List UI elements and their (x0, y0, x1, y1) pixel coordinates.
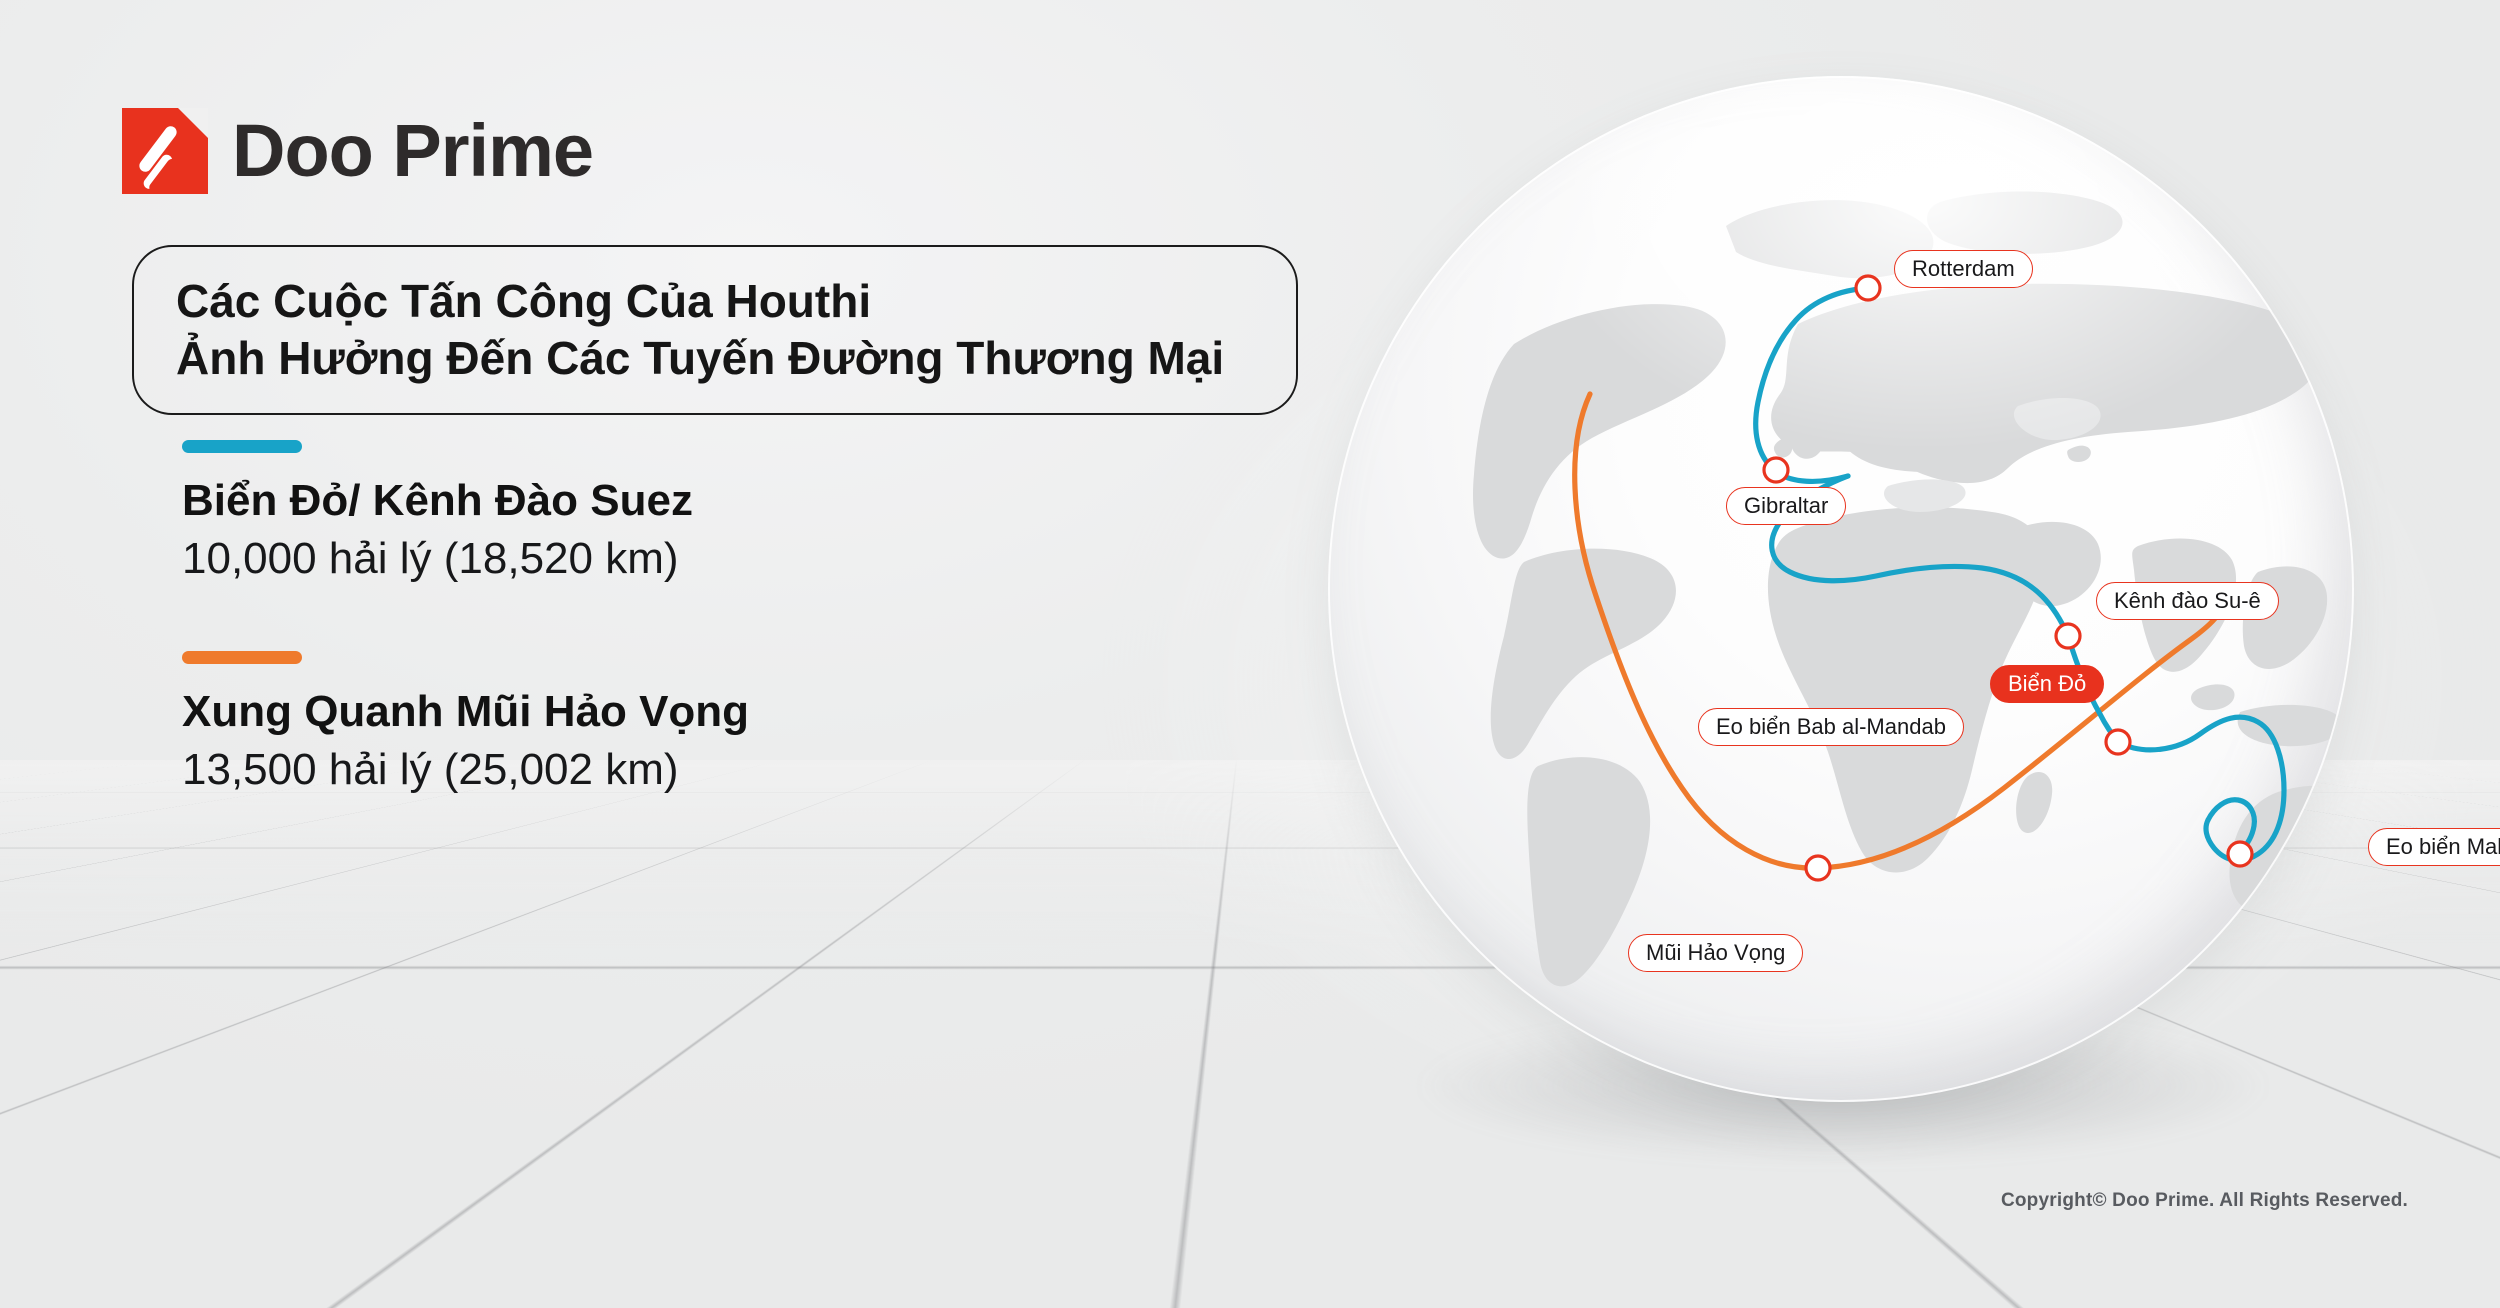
legend-swatch-cape (182, 651, 302, 664)
route-waypoint-markers (1764, 276, 2252, 880)
map-label-cape-of-good-hope[interactable]: Mũi Hảo Vọng (1628, 934, 1803, 972)
marker-gibraltar (1764, 458, 1788, 482)
map-label-malacca[interactable]: Eo biển Malacca (2368, 828, 2500, 866)
legend-title-cape: Xung Quanh Mũi Hảo Vọng (182, 686, 1082, 738)
headline-box: Các Cuộc Tấn Công Của Houthi Ảnh Hưởng Đ… (132, 245, 1298, 415)
legend-item-cape: Xung Quanh Mũi Hảo Vọng 13,500 hải lý (2… (182, 651, 1082, 796)
marker-bab-el-mandab (2106, 730, 2130, 754)
legend-swatch-suez (182, 440, 302, 453)
legend-distance-suez: 10,000 hải lý (18,520 km) (182, 533, 1082, 585)
marker-rotterdam (1856, 276, 1880, 300)
map-label-bab-el-mandab[interactable]: Eo biển Bab al-Mandab (1698, 708, 1964, 746)
route-rotterdam-to-gibraltar (1756, 288, 1868, 481)
map-label-gibraltar[interactable]: Gibraltar (1726, 487, 1846, 525)
marker-cape-of-good-hope (1806, 856, 1830, 880)
route-legend: Biển Đỏ/ Kênh Đào Suez 10,000 hải lý (18… (182, 440, 1082, 862)
brand-logo: Doo Prime (122, 108, 593, 194)
map-label-rotterdam[interactable]: Rotterdam (1894, 250, 2033, 288)
map-label-red-sea[interactable]: Biển Đỏ (1990, 665, 2104, 703)
route-suez-indian-ocean (2118, 717, 2284, 860)
route-cape-of-good-hope (1575, 394, 2220, 868)
brand-name: Doo Prime (232, 114, 593, 188)
doo-prime-logo-icon (122, 108, 208, 194)
legend-distance-cape: 13,500 hải lý (25,002 km) (182, 744, 1082, 796)
marker-suez-canal (2056, 624, 2080, 648)
legend-item-suez: Biển Đỏ/ Kênh Đào Suez 10,000 hải lý (18… (182, 440, 1082, 585)
marker-malacca (2228, 842, 2252, 866)
headline-line-1: Các Cuộc Tấn Công Của Houthi (176, 273, 1296, 330)
headline-line-2: Ảnh Hưởng Đến Các Tuyến Đường Thương Mại (176, 330, 1296, 387)
map-label-suez-canal[interactable]: Kênh đào Su-ê (2096, 582, 2279, 620)
globe-illustration: Rotterdam Gibraltar Kênh đào Su-ê Biển Đ… (1328, 76, 2354, 1102)
legend-title-suez: Biển Đỏ/ Kênh Đào Suez (182, 475, 1082, 527)
copyright-notice: Copyright© Doo Prime. All Rights Reserve… (2001, 1190, 2408, 1212)
